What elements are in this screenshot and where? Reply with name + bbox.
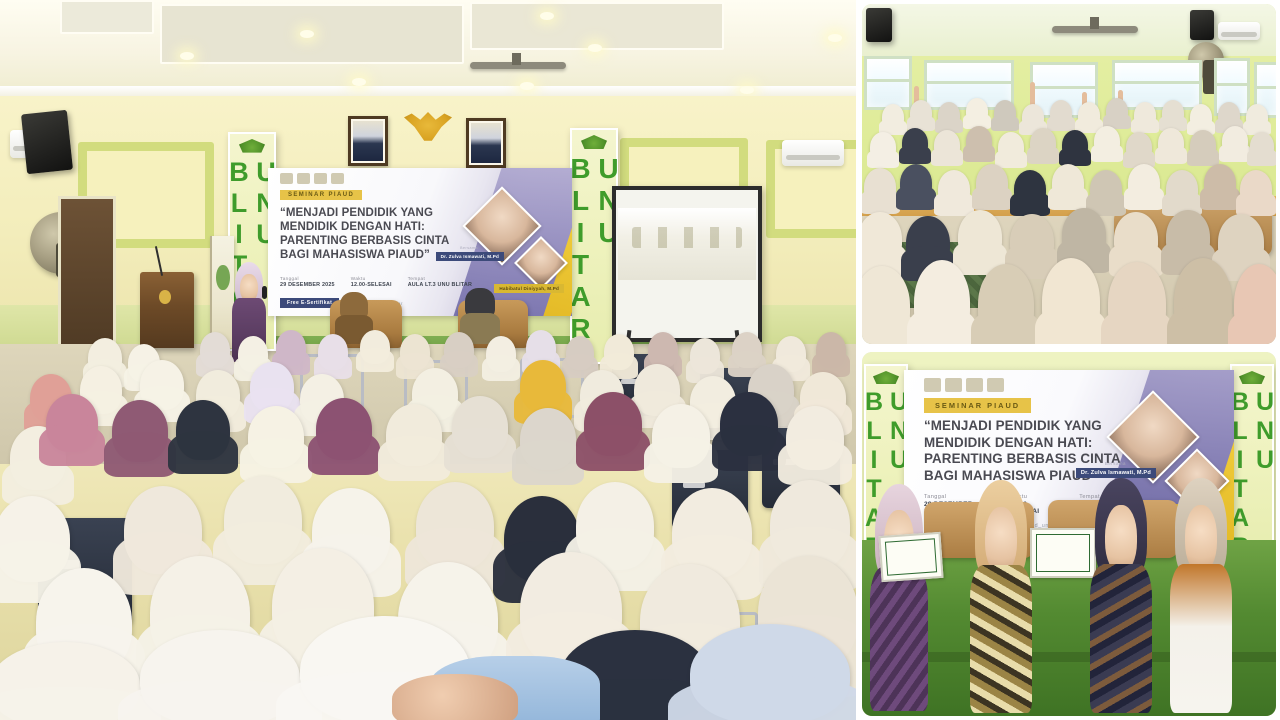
audience-head [486,336,516,372]
institution-logo-icon [966,378,983,392]
participant-head [1022,104,1044,130]
ceiling-downlight [588,44,602,52]
meta-value: 29 DESEMBER 2025 [280,282,335,288]
audience-head [176,400,230,460]
ceiling-downlight [352,78,366,86]
participant-head [976,164,1008,202]
batik-outfit [870,567,928,711]
participant-head [1052,164,1084,202]
audience-head [386,404,442,466]
audience-crowd [0,330,856,720]
audience-head [0,496,70,582]
participant-head [870,132,896,162]
participant-head [1128,164,1160,202]
person-with-certificate-2 [970,480,1032,704]
air-conditioner-icon [1218,22,1260,40]
unu-logo-icon [239,139,265,153]
audience-head [566,336,594,370]
participant-head [958,210,1002,264]
standing-banner-right: UNU BLITAR [1230,364,1274,568]
ceiling-downlight [520,82,534,90]
unu-logo-icon [1239,371,1265,384]
banner-meta-date: Tanggal 29 DESEMBER 2025 [280,276,335,288]
audience-head [224,476,302,564]
person-with-certificate-3 [1090,478,1152,704]
audience-head [360,330,390,364]
participant-head [1204,164,1236,202]
participant-head [994,100,1016,126]
meta-value: 12.00-SELESAI [351,282,392,288]
audience-head [520,408,576,470]
audience-head [690,338,720,374]
participant-head [1250,132,1274,160]
moderator-name: Habibatul Diniyyah, M.Pd [494,284,564,293]
cert-photo: UNU BLITAR UNU BLITAR SEMINAR PIAUD “MEN… [862,352,1276,716]
participant-head [938,102,960,128]
participant-head [966,98,988,124]
participant-head [1126,132,1152,162]
audience-head [584,392,642,456]
photo-collage: UNU BLITAR UNU BLITAR SEMINAR PIAUD [0,0,1280,720]
participant-head [1234,264,1276,344]
banner-logo-row [924,378,1004,392]
banner-tagline: SEMINAR PIAUD [280,190,362,200]
wall-speaker-icon [866,8,892,42]
institution-logo-icon [924,378,941,392]
participant-head [1108,262,1166,344]
banner-logo-row [280,173,344,184]
institution-logo-icon [945,378,962,392]
ceiling-fan [1052,26,1138,33]
participant-head [966,126,992,156]
participant-head [1174,258,1232,344]
participant-head [1050,100,1072,126]
institution-logo-icon [297,173,310,184]
institution-logo-icon [987,378,1004,392]
audience-head [520,360,566,412]
participant-head [1062,208,1106,262]
certificate-2 [1030,528,1096,578]
participant-head [938,170,970,208]
participant-head [1134,102,1156,128]
room-window [864,56,912,110]
ceiling-downlight [300,30,314,38]
audience-head [690,624,850,720]
audience-head [46,394,98,452]
projected-slide [618,208,756,280]
participant-head [1106,98,1128,124]
participant-head [1166,170,1198,208]
participant-head [910,100,932,126]
participant-head [1166,210,1210,264]
presidential-portrait-right [466,118,506,168]
meta-key: Tempat [408,276,472,281]
participant-head [1218,102,1240,128]
audience-head [250,362,294,412]
participant-head [900,164,932,202]
ceiling-fan [470,62,566,69]
participant-head [1078,102,1100,128]
banner-meta-row: Tanggal 29 DESEMBER 2025 Waktu 12.00-SEL… [280,276,480,288]
audience-head [316,398,372,460]
certificate-1 [878,532,943,582]
audience-head [248,406,304,468]
audience-head [652,404,710,468]
meta-key: Waktu [351,276,392,281]
participant-head [1240,170,1272,208]
participant-head [934,130,960,160]
participant-head [1158,128,1184,158]
participant-head [864,168,896,206]
audience-head [318,334,348,370]
audience-head [276,330,306,366]
institution-logo-icon [314,173,327,184]
handheld-microphone-icon [262,286,267,299]
ac-vent [1221,32,1258,37]
unu-logo-icon [873,371,899,384]
person-with-certificate-1 [870,484,928,702]
audience-head [786,406,844,470]
audience-head [648,332,678,368]
participant-head [1062,130,1088,160]
audience-head [112,400,168,462]
audience-head [732,332,762,368]
main-photo: UNU BLITAR UNU BLITAR SEMINAR PIAUD [0,0,856,720]
speaker-name: Dr. Zulva Ismawati, M.Pd [1076,468,1156,478]
audience-head [816,332,846,368]
institution-logo-icon [280,173,293,184]
participant-head [998,132,1024,162]
speaker-label: Bersama [460,246,478,250]
audience-head [444,332,474,368]
participant-head [1010,214,1054,268]
face [985,507,1017,574]
banner-meta-time: Waktu 12.00-SELESAI [351,276,392,288]
ceiling-downlight [740,86,754,94]
audience-head [720,392,778,456]
banner-title-line-3: PARENTING BERBASIS CINTA [280,234,470,248]
ceiling-panel [60,0,154,34]
ceiling-downlight [180,52,194,60]
participant-head [1090,170,1122,208]
banner-tagline: SEMINAR PIAUD [924,398,1031,413]
seminar-hall-interior: UNU BLITAR UNU BLITAR SEMINAR PIAUD [0,0,856,720]
group-photo [862,4,1276,344]
banner-title-line-1: “MENJADI PENDIDIK YANG [280,206,470,220]
participant-head [862,212,902,266]
unu-logo-icon [581,135,607,149]
audience-head [452,396,508,458]
batik-outfit [1090,564,1152,713]
banner-title-line-2: MENDIDIK DENGAN HATI: [280,220,470,234]
meta-key: Tanggal [280,276,335,281]
audience-head [400,334,430,370]
seminar-backdrop-banner: SEMINAR PIAUD “MENJADI PENDIDIK YANG MEN… [268,168,572,316]
banner-meta-venue: Tempat AULA LT.3 UNU BLITAR [408,276,472,288]
batik-outfit [970,565,1032,713]
ceiling-panel [470,2,724,50]
ceiling-downlight [540,12,554,20]
audience-hand [392,674,518,720]
hall-ceiling [0,0,856,96]
banner-title-line-1: “MENJADI PENDIDIK YANG [924,418,1139,435]
participant-head [1190,104,1212,130]
meta-value: AULA LT.3 UNU BLITAR [408,282,472,288]
participant-head [1042,258,1100,344]
face [1105,505,1137,573]
institution-logo-icon [331,173,344,184]
participant-head [978,264,1034,344]
participant-head [1014,170,1046,208]
audience-head [200,332,230,368]
participant-head [902,128,928,158]
wall-speaker-icon [1190,10,1214,40]
participant-head [1222,126,1248,156]
speaker-name: Dr. Zulva Ismawati, M.Pd [436,252,504,261]
blazer-outfit [1170,564,1232,713]
ceiling-downlight [828,34,842,42]
air-conditioner-icon [782,140,844,166]
speaker-label: Bersama [1105,461,1126,466]
presidential-portrait-left [348,116,388,166]
projector-screen [612,186,762,342]
participant-head [1094,126,1120,156]
face [1185,505,1217,573]
participant-head [1246,104,1268,130]
participant-head [914,260,970,344]
person-with-certificate-4 [1170,478,1232,704]
participant-head [1114,212,1158,266]
participant-head [1162,100,1184,126]
audience-head [416,482,494,570]
audience-head [604,334,634,370]
standing-banner-right: UNU BLITAR [570,128,618,364]
ac-vent [786,155,841,160]
participant-head [1030,128,1056,158]
participant-head [1218,214,1264,270]
wall-speaker-icon [21,110,73,174]
participant-head [1190,130,1216,160]
participant-head [882,104,904,130]
